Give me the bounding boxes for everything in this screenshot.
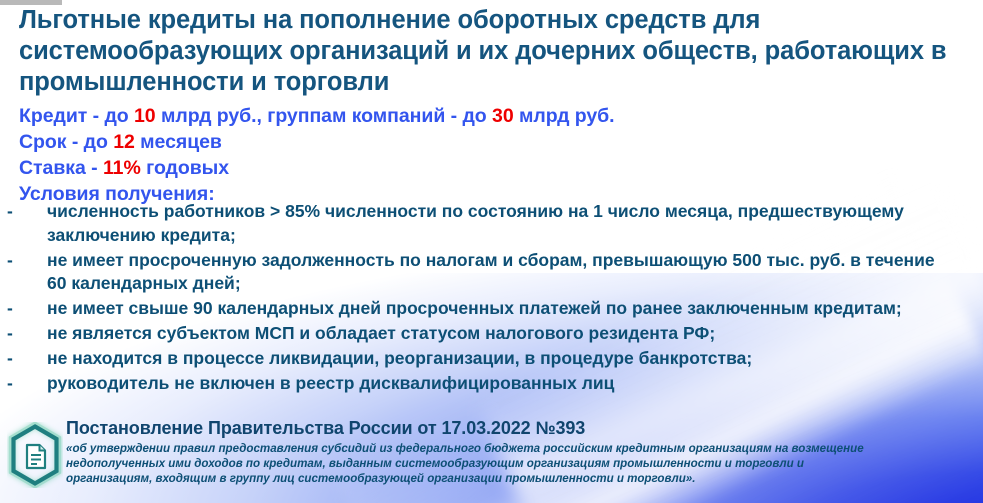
slide-title: Льготные кредиты на пополнение оборотных… <box>19 5 964 98</box>
key-facts-block: Кредит - до 10 млрд руб., группам компан… <box>19 103 959 207</box>
document-icon <box>7 422 63 488</box>
list-item: - не является субъектом МСП и обладает с… <box>6 322 971 346</box>
list-item: - не имеет просроченную задолженность по… <box>6 249 971 297</box>
fact-rate-line: Ставка - 11% годовых <box>19 155 959 181</box>
footer-body-line-3: организациям, входящим в группу лиц сист… <box>66 471 966 486</box>
fact-term-line: Срок - до 12 месяцев <box>19 129 959 155</box>
bullet-dash-icon: - <box>6 249 47 273</box>
footer-body-line-1: «об утверждении правил предоставления су… <box>66 441 966 456</box>
bullet-dash-icon: - <box>6 347 47 371</box>
fact-term-suffix: месяцев <box>135 131 222 153</box>
slide-canvas: Льготные кредиты на пополнение оборотных… <box>0 0 983 503</box>
fact-credit-middle: млрд руб., группам компаний - до <box>156 105 492 127</box>
fact-term-value: 12 <box>113 131 135 153</box>
conditions-list: - численность работников > 85% численнос… <box>6 200 971 396</box>
list-item-text: руководитель не включен в реестр дисквал… <box>47 372 971 396</box>
bullet-dash-icon: - <box>6 297 47 321</box>
bullet-dash-icon: - <box>6 322 47 346</box>
fact-term-prefix: Срок - до <box>19 131 113 153</box>
footer-body: «об утверждении правил предоставления су… <box>66 441 966 486</box>
fact-rate-value: 11% <box>103 157 141 179</box>
list-item-text: численность работников > 85% численности… <box>47 200 971 248</box>
fact-credit-prefix: Кредит - до <box>19 105 134 127</box>
list-item-text: не является субъектом МСП и обладает ста… <box>47 322 971 346</box>
list-item: - численность работников > 85% численнос… <box>6 200 971 248</box>
list-item: - не имеет свыше 90 календарных дней про… <box>6 297 971 321</box>
fact-credit-amount-group: 30 <box>492 105 514 127</box>
fact-rate-prefix: Ставка - <box>19 157 103 179</box>
footer-text-wrapper: Постановление Правительства России от 17… <box>66 418 976 486</box>
fact-credit-suffix: млрд руб. <box>514 105 615 127</box>
footer-reference-block: Постановление Правительства России от 17… <box>0 416 983 503</box>
fact-credit-line: Кредит - до 10 млрд руб., группам компан… <box>19 103 959 129</box>
list-item: - руководитель не включен в реестр дискв… <box>6 372 971 396</box>
list-item: - не находится в процессе ликвидации, ре… <box>6 347 971 371</box>
footer-body-line-2: недополученных ими доходов по кредитам, … <box>66 456 966 471</box>
bullet-dash-icon: - <box>6 200 47 224</box>
list-item-text: не имеет просроченную задолженность по н… <box>47 249 971 297</box>
bullet-dash-icon: - <box>6 372 47 396</box>
fact-credit-amount: 10 <box>134 105 156 127</box>
fact-rate-suffix: годовых <box>141 157 229 179</box>
list-item-text: не имеет свыше 90 календарных дней проср… <box>47 297 971 321</box>
footer-title: Постановление Правительства России от 17… <box>66 418 976 440</box>
list-item-text: не находится в процессе ликвидации, реор… <box>47 347 971 371</box>
